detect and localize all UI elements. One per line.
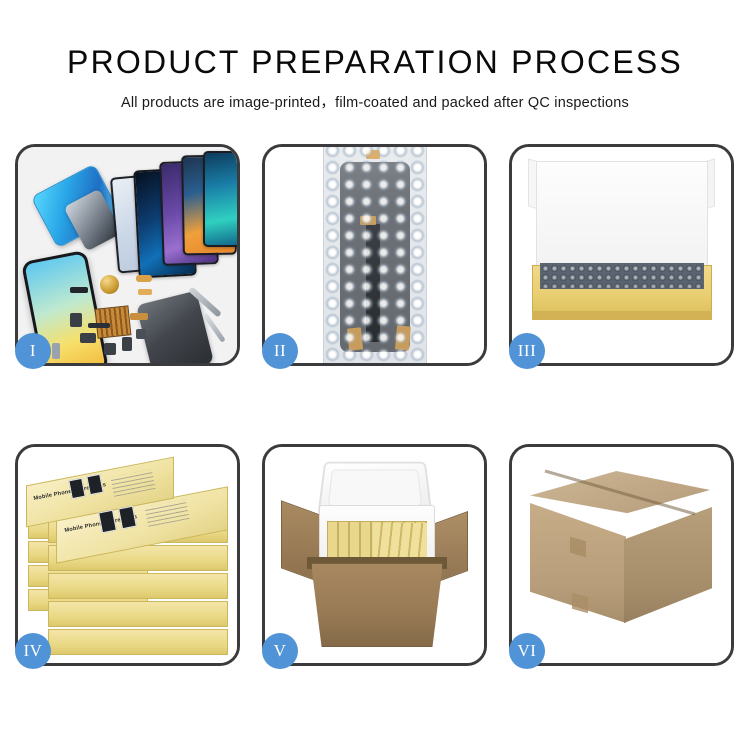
speaker-component — [100, 275, 119, 294]
box-stack: Mobile Phone Spare Parts Mobile Phone Sp… — [26, 465, 236, 655]
stacked-box — [48, 601, 228, 627]
carton-tape-patch — [572, 593, 588, 614]
spare-part — [80, 333, 96, 343]
process-step-1: I — [15, 144, 240, 366]
spare-part — [130, 313, 148, 320]
process-step-3: III — [509, 144, 734, 366]
step-3-image — [512, 147, 731, 363]
spare-part — [70, 287, 88, 293]
step-5-image — [265, 447, 484, 663]
step-badge-6: VI — [509, 633, 545, 669]
carton-right-face — [624, 507, 712, 623]
carton-body — [311, 563, 443, 647]
spare-part — [88, 323, 110, 328]
tape-strip — [347, 327, 363, 350]
spare-part — [122, 337, 132, 351]
step-2-image — [265, 147, 484, 363]
header: PRODUCT PREPARATION PROCESS All products… — [0, 0, 750, 112]
step-badge-4: IV — [15, 633, 51, 669]
spare-part — [136, 329, 146, 339]
process-step-2: II — [262, 144, 487, 366]
process-step-6: VI — [509, 444, 734, 666]
stacked-box — [48, 629, 228, 655]
spare-part — [138, 289, 152, 295]
connector-chip-grid — [95, 305, 132, 338]
bubble-wrap-contents — [540, 263, 704, 289]
spare-part — [52, 343, 60, 359]
spare-part — [104, 343, 116, 355]
page-title: PRODUCT PREPARATION PROCESS — [0, 44, 750, 81]
step-4-image: Mobile Phone Spare Parts Mobile Phone Sp… — [18, 447, 237, 663]
step-1-image — [18, 147, 237, 363]
process-step-grid: I II — [15, 144, 735, 690]
phone-screen-5 — [203, 151, 237, 247]
stacked-box — [48, 573, 228, 599]
flex-cable — [366, 224, 380, 342]
process-step-4: Mobile Phone Spare Parts Mobile Phone Sp… — [15, 444, 240, 666]
tape-strip — [360, 216, 376, 225]
box-lid-back — [536, 161, 708, 273]
step-badge-3: III — [509, 333, 545, 369]
spare-part — [136, 275, 152, 282]
step-6-image — [512, 447, 731, 663]
product-preparation-infographic: PRODUCT PREPARATION PROCESS All products… — [0, 0, 750, 750]
step-badge-5: V — [262, 633, 298, 669]
process-step-5: V — [262, 444, 487, 666]
tape-strip — [366, 150, 380, 159]
box-front-edge — [532, 311, 712, 320]
page-subtitle: All products are image-printed，film-coat… — [0, 91, 750, 112]
tape-strip — [395, 325, 411, 350]
step-badge-2: II — [262, 333, 298, 369]
step-badge-1: I — [15, 333, 51, 369]
foam-lid-inner — [328, 469, 422, 506]
bubble-wrap-bag — [323, 147, 427, 363]
spare-part — [70, 313, 82, 327]
